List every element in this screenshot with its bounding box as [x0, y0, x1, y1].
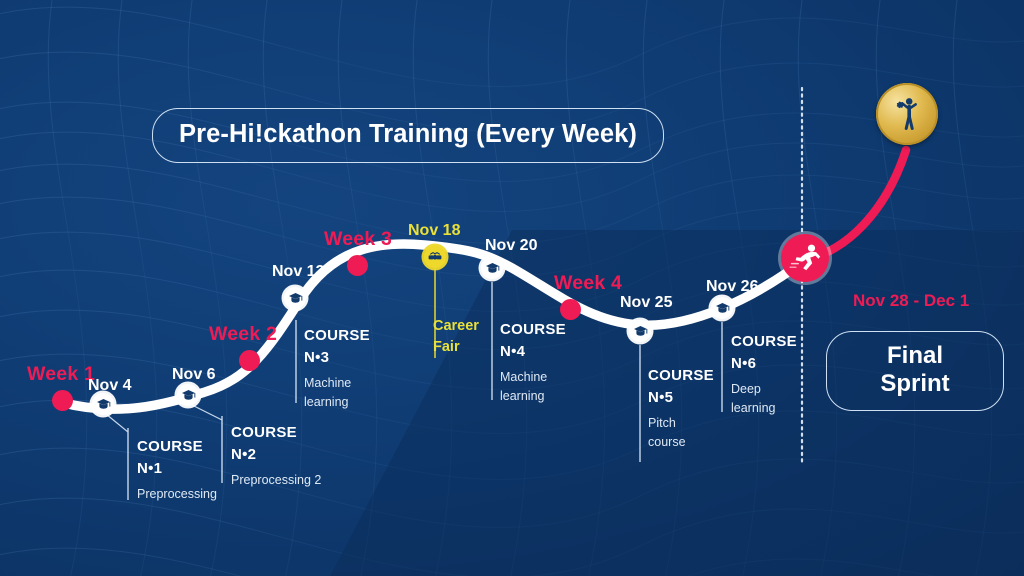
course-block-2: COURSE N•2 Preprocessing 2 — [231, 422, 321, 489]
page-title: Pre-Hi!ckathon Training (Every Week) — [152, 108, 664, 163]
graduation-cap-icon — [629, 320, 651, 342]
date-label-nov-6: Nov 6 — [172, 366, 216, 385]
week-dot-3 — [347, 255, 368, 276]
graduation-cap-icon — [481, 257, 503, 279]
course-description-3-line1: Machine — [304, 374, 370, 393]
career-fair-line1: Career — [433, 316, 479, 337]
career-fair-line2: Fair — [433, 337, 479, 358]
course-title-line1: COURSE — [304, 325, 370, 347]
date-label-nov-13: Nov 13 — [272, 263, 324, 282]
week-label-1: Week 1 — [27, 363, 95, 386]
handshake-icon — [424, 246, 446, 268]
course-block-4: COURSE N•4 Machine learning — [500, 319, 566, 406]
graduation-cap-glyph — [96, 398, 111, 411]
graduation-cap-icon — [177, 384, 199, 406]
course-title-line2: N•4 — [500, 341, 566, 363]
course-description-5-line2: course — [648, 433, 714, 452]
runner-icon — [781, 234, 829, 282]
course-description-6-line2: learning — [731, 399, 797, 418]
week-dot-1 — [52, 390, 73, 411]
week-label-2: Week 2 — [209, 323, 277, 346]
course-title-line2: N•1 — [137, 458, 217, 480]
week-dot-2 — [239, 350, 260, 371]
course-title-line1: COURSE — [137, 436, 217, 458]
runner-glyph — [789, 243, 821, 273]
graduation-cap-glyph — [181, 389, 196, 402]
course-title-line2: N•2 — [231, 444, 321, 466]
course-block-3: COURSE N•3 Machine learning — [304, 325, 370, 412]
course-title-line1: COURSE — [731, 331, 797, 353]
course-title-line2: N•3 — [304, 347, 370, 369]
graduation-cap-glyph — [288, 292, 303, 305]
course-description-4-line1: Machine — [500, 368, 566, 387]
week-label-4: Week 4 — [554, 272, 622, 295]
week-dot-4 — [560, 299, 581, 320]
course-title-line1: COURSE — [648, 365, 714, 387]
course-description-4-line2: learning — [500, 387, 566, 406]
course-description-2: Preprocessing 2 — [231, 471, 321, 490]
final-sprint-label: Final Sprint — [826, 331, 1004, 411]
graduation-cap-glyph — [485, 262, 500, 275]
handshake-glyph — [428, 251, 442, 263]
graduation-cap-glyph — [715, 302, 730, 315]
graduation-cap-icon — [284, 287, 306, 309]
medal-trophy-icon — [876, 83, 938, 145]
graduation-cap-icon — [711, 297, 733, 319]
date-label-nov-20: Nov 20 — [485, 237, 537, 256]
course-title-line1: COURSE — [231, 422, 321, 444]
final-sprint-date-range: Nov 28 - Dec 1 — [853, 291, 969, 311]
course-block-5: COURSE N•5 Pitch course — [648, 365, 714, 452]
winner-glyph — [892, 97, 922, 131]
course-title-line2: N•6 — [731, 353, 797, 375]
date-label-nov-26: Nov 26 — [706, 278, 758, 297]
graduation-cap-glyph — [633, 325, 648, 338]
course-block-1: COURSE N•1 Preprocessing — [137, 436, 217, 503]
course-description-3-line2: learning — [304, 393, 370, 412]
date-label-nov-18: Nov 18 — [408, 222, 460, 241]
course-title-line2: N•5 — [648, 387, 714, 409]
course-description-6-line1: Deep — [731, 380, 797, 399]
date-label-nov-25: Nov 25 — [620, 294, 672, 313]
week-label-3: Week 3 — [324, 228, 392, 251]
course-description-5-line1: Pitch — [648, 414, 714, 433]
career-fair-block: Career Fair — [433, 316, 479, 358]
course-description-1: Preprocessing — [137, 485, 217, 504]
course-block-6: COURSE N•6 Deep learning — [731, 331, 797, 418]
graduation-cap-icon — [92, 393, 114, 415]
course-title-line1: COURSE — [500, 319, 566, 341]
date-label-nov-4: Nov 4 — [88, 377, 132, 396]
timeline-infographic: Pre-Hi!ckathon Training (Every Week) Wee… — [0, 0, 1024, 576]
